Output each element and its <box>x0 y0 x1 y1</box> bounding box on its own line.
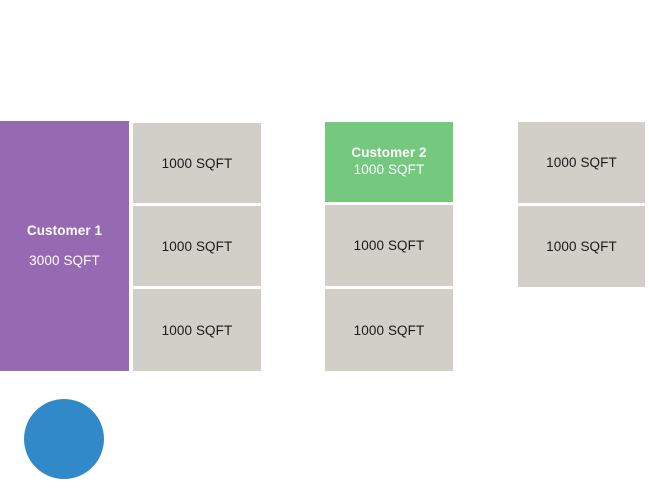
unit-title: Customer 1 <box>27 223 102 240</box>
vacant-unit-area: 1000 SQFT <box>354 238 425 253</box>
map-marker-circle[interactable] <box>24 399 104 479</box>
unit-block-col1-unit-1[interactable]: 1000 SQFT <box>133 123 261 203</box>
floorplan-canvas: Customer 13000 SQFT1000 SQFT1000 SQFT100… <box>0 0 649 492</box>
vacant-unit-area: 1000 SQFT <box>162 156 233 171</box>
unit-block-col2-unit-2[interactable]: 1000 SQFT <box>325 205 453 286</box>
unit-block-col3-unit-1[interactable]: 1000 SQFT <box>518 122 645 203</box>
vacant-unit-area: 1000 SQFT <box>546 155 617 170</box>
unit-block-col2-unit-3[interactable]: 1000 SQFT <box>325 289 453 371</box>
vacant-unit-area: 1000 SQFT <box>354 323 425 338</box>
unit-title: Customer 2 <box>351 145 426 162</box>
unit-block-col1-unit-2[interactable]: 1000 SQFT <box>133 206 261 286</box>
unit-block-col3-unit-2[interactable]: 1000 SQFT <box>518 206 645 287</box>
vacant-unit-area: 1000 SQFT <box>162 239 233 254</box>
unit-block-customer-1[interactable]: Customer 13000 SQFT <box>0 121 129 371</box>
unit-area: 1000 SQFT <box>354 162 425 179</box>
vacant-unit-area: 1000 SQFT <box>162 323 233 338</box>
vacant-unit-area: 1000 SQFT <box>546 239 617 254</box>
unit-block-col1-unit-3[interactable]: 1000 SQFT <box>133 289 261 371</box>
unit-block-customer-2[interactable]: Customer 21000 SQFT <box>325 122 453 202</box>
unit-area: 3000 SQFT <box>29 253 100 270</box>
